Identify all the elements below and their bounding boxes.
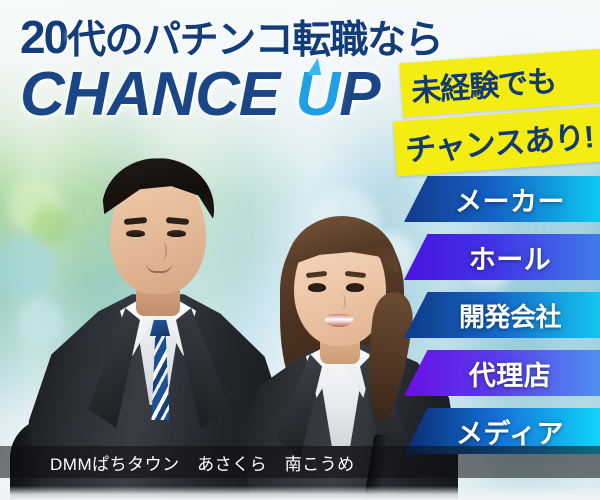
credit-bar: DMMぱちタウン あさくら 南こうめ — [0, 446, 600, 478]
female-eye-right — [346, 283, 364, 292]
headline-u-accent: U — [295, 62, 339, 127]
category-button-maker[interactable]: メーカー — [404, 176, 600, 222]
headline-line-1-text: 代のパチンコ転職なら — [67, 19, 442, 62]
category-button-hall[interactable]: ホール — [404, 234, 600, 280]
category-button-label: ホール — [469, 238, 552, 277]
male-eye-left — [126, 230, 145, 237]
category-button-label: メーカー — [455, 180, 565, 219]
female-nose — [334, 294, 346, 310]
credit-text: DMMぱちタウン あさくら 南こうめ — [50, 450, 355, 475]
headline-block: 20代のパチンコ転職なら CHANCE UP — [20, 14, 442, 127]
category-button-list: メーカー ホール 開発会社 代理店 メディア — [404, 176, 600, 466]
male-eye-right — [167, 230, 186, 237]
headline-line-2: CHANCE UP — [20, 62, 442, 127]
category-button-developer[interactable]: 開発会社 — [404, 292, 600, 338]
category-button-label: 開発会社 — [459, 297, 561, 334]
category-button-agency[interactable]: 代理店 — [404, 350, 600, 396]
category-button-label: 代理店 — [469, 354, 552, 393]
headline-chance-word: CHANCE — [20, 60, 295, 129]
headline-line-1: 20代のパチンコ転職なら — [20, 14, 442, 60]
female-eye-left — [308, 283, 326, 292]
promo-badge-2: チャンスあり! — [393, 106, 600, 176]
category-button-label: メディア — [456, 412, 564, 451]
female-mouth — [325, 314, 353, 327]
headline-number: 20 — [20, 11, 67, 63]
promo-badge-group: 未経験でも チャンスあり! — [395, 56, 600, 169]
advertisement-banner: 20代のパチンコ転職なら CHANCE UP 未経験でも チャンスあり! メーカ… — [0, 0, 600, 500]
male-nose — [154, 242, 167, 260]
headline-p-letter: P — [339, 60, 379, 129]
bottom-fade — [0, 486, 600, 500]
promo-badge-1: 未経験でも — [399, 49, 600, 118]
